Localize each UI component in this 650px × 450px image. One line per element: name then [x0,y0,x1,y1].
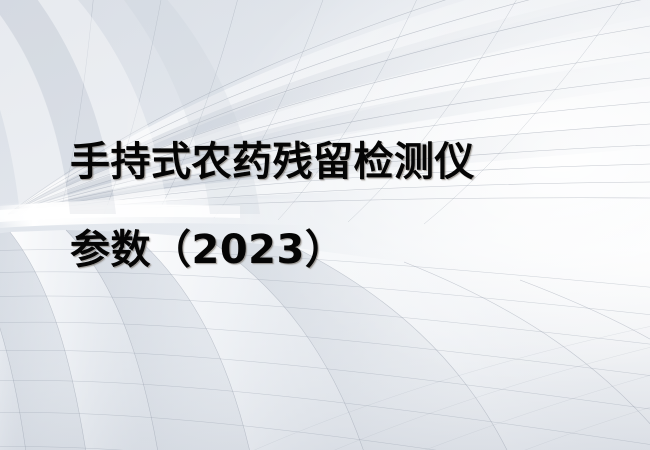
banner-image: 手持式农药残留检测仪 参数（2023） [0,0,650,450]
title-line-2: 参数（2023） [70,206,630,294]
banner-title: 手持式农药残留检测仪 参数（2023） [70,118,630,294]
title-line-1: 手持式农药残留检测仪 [70,118,630,206]
